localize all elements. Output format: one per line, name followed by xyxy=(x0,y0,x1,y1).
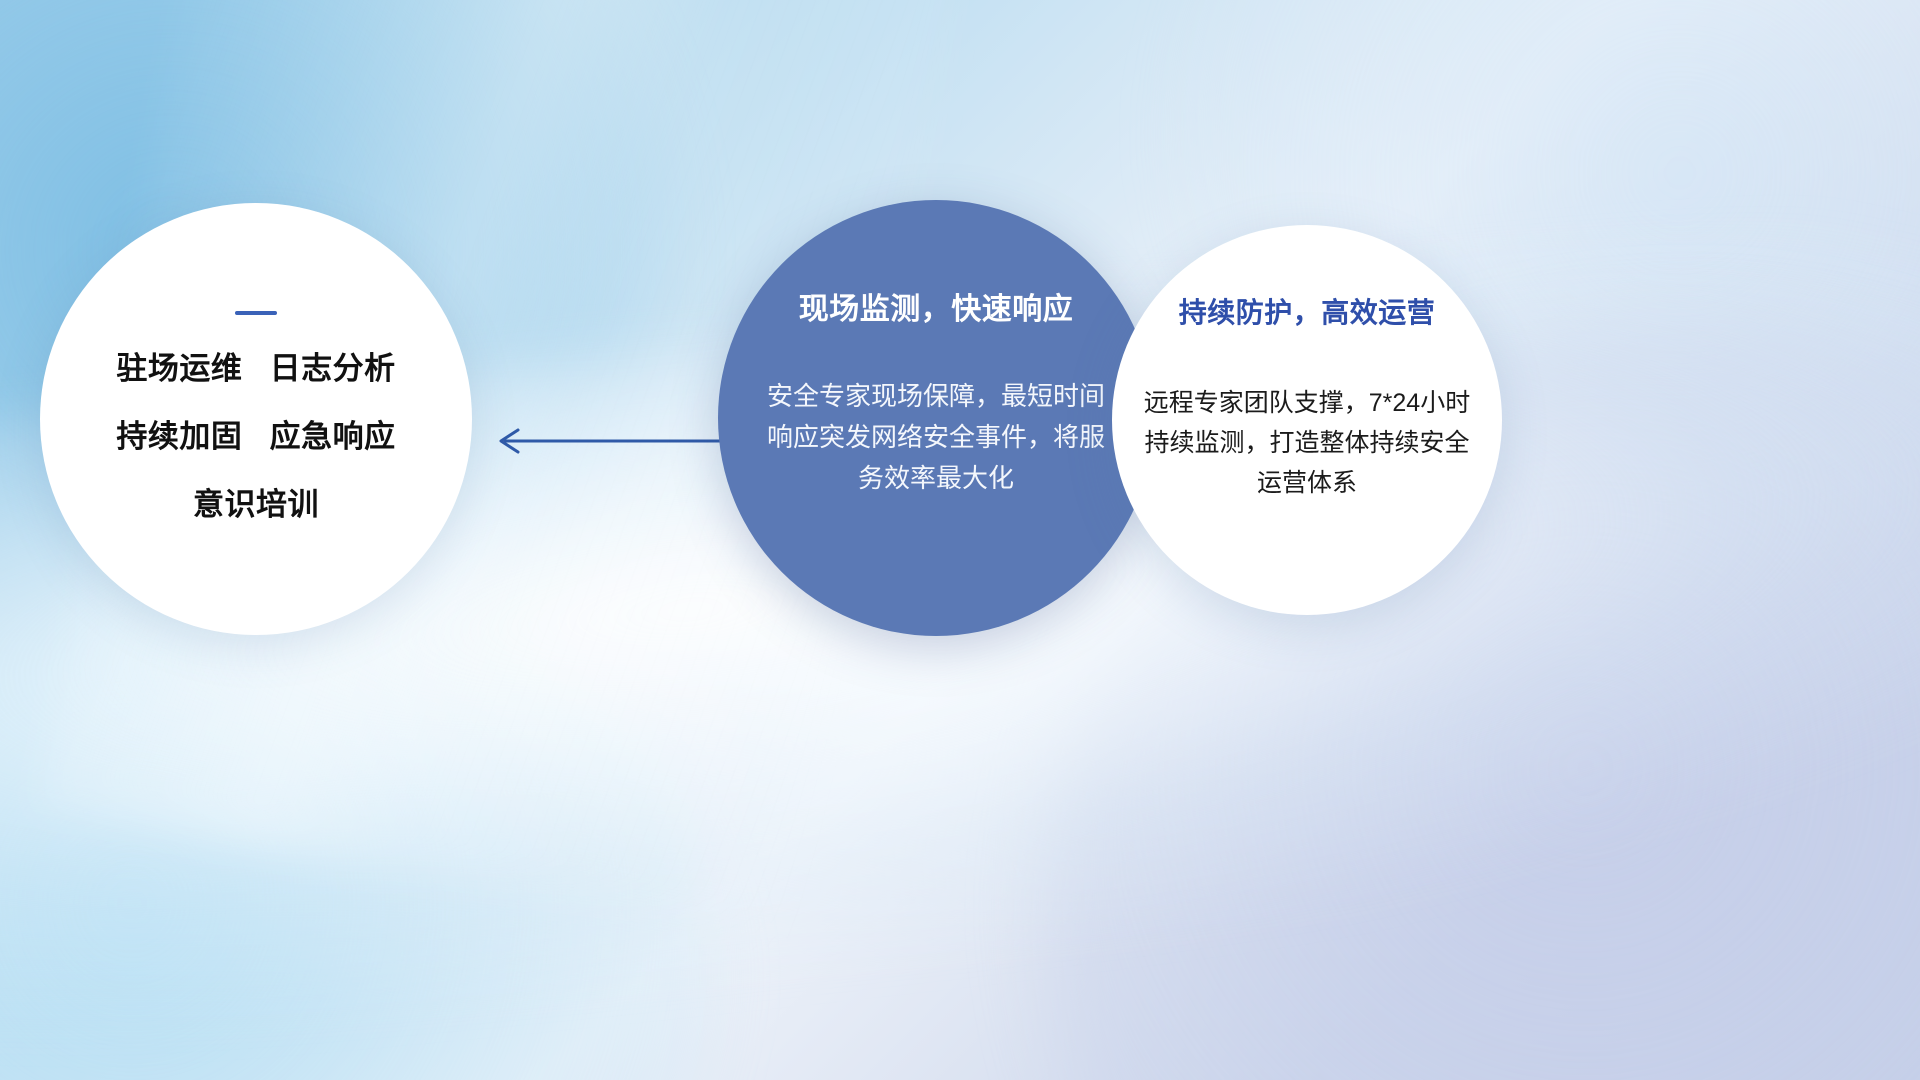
continuous-protection-body: 远程专家团队支撑，7*24小时持续监测，打造整体持续安全运营体系 xyxy=(1134,383,1480,503)
services-circle: 驻场运维 日志分析 持续加固 应急响应 意识培训 xyxy=(40,203,472,635)
continuous-protection-title: 持续防护，高效运营 xyxy=(1134,291,1480,331)
dash-separator xyxy=(235,311,277,315)
onsite-monitoring-title: 现场监测，快速响应 xyxy=(752,284,1120,328)
continuous-protection-content: 持续防护，高效运营 远程专家团队支撑，7*24小时持续监测，打造整体持续安全运营… xyxy=(1112,291,1502,503)
onsite-monitoring-body: 安全专家现场保障，最短时间响应突发网络安全事件，将服务效率最大化 xyxy=(752,376,1120,499)
continuous-protection-circle: 持续防护，高效运营 远程专家团队支撑，7*24小时持续监测，打造整体持续安全运营… xyxy=(1112,225,1502,615)
service-keyword-line: 意识培训 xyxy=(64,489,448,520)
service-keyword-line: 驻场运维 日志分析 xyxy=(64,353,448,384)
onsite-monitoring-content: 现场监测，快速响应 安全专家现场保障，最短时间响应突发网络安全事件，将服务效率最… xyxy=(718,284,1154,499)
arrow-left-icon xyxy=(488,418,728,464)
service-keyword-line: 持续加固 应急响应 xyxy=(64,421,448,452)
slide-canvas: 驻场运维 日志分析 持续加固 应急响应 意识培训 现场监测，快速响应 安全专家现… xyxy=(0,0,1920,1080)
services-content: 驻场运维 日志分析 持续加固 应急响应 意识培训 xyxy=(40,311,472,520)
onsite-monitoring-circle: 现场监测，快速响应 安全专家现场保障，最短时间响应突发网络安全事件，将服务效率最… xyxy=(718,200,1154,636)
